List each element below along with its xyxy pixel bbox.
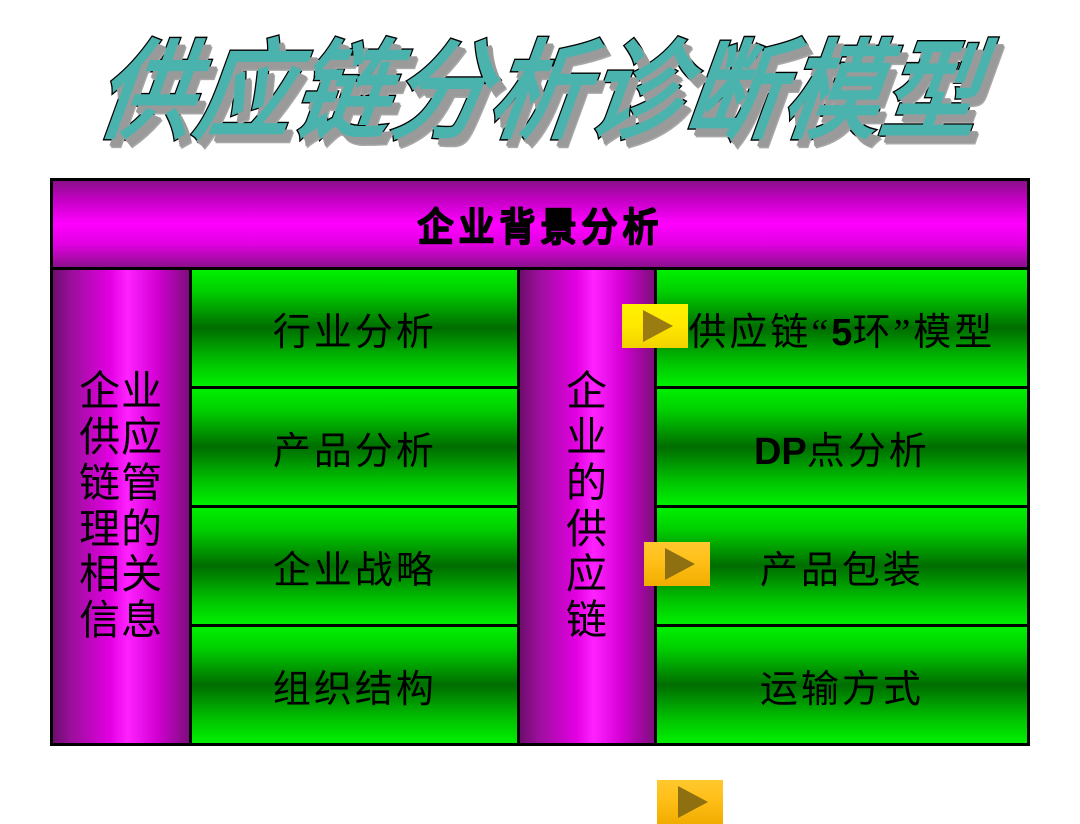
triangle-glyph <box>643 310 673 342</box>
diagram-header-label: 企业背景分析 <box>417 196 663 252</box>
page-title: 供应链分析诊断模型 <box>0 34 1080 152</box>
latin-fragment: 5 <box>831 312 852 354</box>
supply-chain-diagram-table: 企业背景分析 企业 供应 链管 理的 相关 信息 行业分析 产品分析 企业 <box>50 178 1030 746</box>
cell-label: 企业战略 <box>273 539 437 594</box>
cell-label: 供应链“5环”模型 <box>688 301 995 356</box>
cell-label: 产品分析 <box>273 420 437 475</box>
diagram-header-band: 企业背景分析 <box>53 181 1027 270</box>
cell-label: 运输方式 <box>760 658 924 713</box>
cell-label: 行业分析 <box>273 301 437 356</box>
column-enterprise-supply-chain-info: 企业 供应 链管 理的 相关 信息 <box>53 270 192 743</box>
cell-label: 产品包装 <box>760 539 924 594</box>
column-supply-chain-items: 供应链“5环”模型 DP点分析 产品包装 运输方式 <box>657 270 1027 743</box>
triangle-glyph <box>678 786 708 818</box>
cell-label: DP点分析 <box>754 420 930 475</box>
cell-label: 组织结构 <box>273 658 437 713</box>
vertical-label-text: 企业 供应 链管 理的 相关 信息 <box>79 369 163 644</box>
column-background-analysis-items: 行业分析 产品分析 企业战略 组织结构 <box>192 270 517 743</box>
play-arrow-icon-enterprise-strategy[interactable] <box>657 780 723 824</box>
cell-product-packaging[interactable]: 产品包装 <box>657 508 1027 627</box>
cell-enterprise-strategy[interactable]: 企业战略 <box>192 508 517 627</box>
triangle-glyph <box>665 548 695 580</box>
cell-product-analysis[interactable]: 产品分析 <box>192 389 517 508</box>
cell-organization-structure[interactable]: 组织结构 <box>192 627 517 743</box>
cell-transport-mode[interactable]: 运输方式 <box>657 627 1027 743</box>
play-arrow-icon-product-analysis[interactable] <box>644 542 710 586</box>
cell-industry-analysis[interactable]: 行业分析 <box>192 270 517 389</box>
diagram-body: 企业 供应 链管 理的 相关 信息 行业分析 产品分析 企业战略 <box>53 270 1027 743</box>
vertical-label-text: 企 业 的 供 应 链 <box>566 369 608 644</box>
cell-dp-point-analysis[interactable]: DP点分析 <box>657 389 1027 508</box>
cell-five-ring-model[interactable]: 供应链“5环”模型 <box>657 270 1027 389</box>
page-title-text: 供应链分析诊断模型 <box>90 27 991 159</box>
latin-fragment: DP <box>754 431 807 473</box>
play-arrow-icon-industry-analysis[interactable] <box>622 304 688 348</box>
